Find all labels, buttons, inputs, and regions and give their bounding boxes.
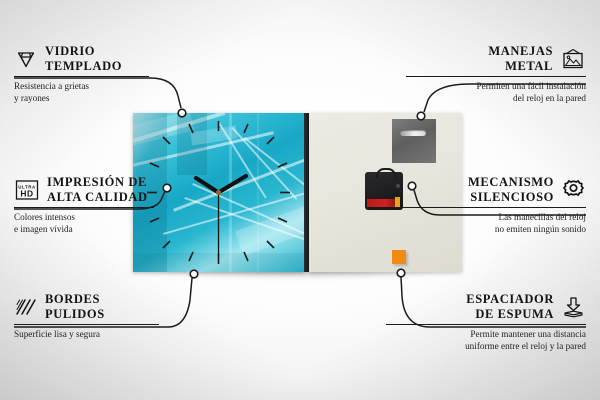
callout-impresion-alta-calidad: ultra HD IMPRESIÓN DE ALTA CALIDAD Color…: [14, 175, 154, 235]
callout-description: Permite mantener una distancia uniforme …: [386, 329, 586, 352]
clock-front-panel: [133, 113, 304, 272]
framed-picture-icon: [560, 48, 586, 70]
callout-description: Resistencia a grietas y rayones: [14, 81, 149, 104]
callout-heading: MANEJAS METAL: [406, 44, 586, 73]
callout-heading: BORDES PULIDOS: [14, 292, 159, 321]
arrow-down-stack-icon: [561, 296, 586, 318]
callout-description: Las manecillas del reloj no emiten ningú…: [396, 212, 586, 235]
callout-title: IMPRESIÓN DE ALTA CALIDAD: [47, 175, 148, 204]
callout-divider: [14, 324, 159, 325]
callout-description: Colores intensos e imagen vívida: [14, 212, 154, 235]
callout-mecanismo-silencioso: MECANISMO SILENCIOSO Las manecillas del …: [396, 175, 586, 235]
callout-heading: ultra HD IMPRESIÓN DE ALTA CALIDAD: [14, 175, 154, 204]
callout-divider: [386, 324, 586, 325]
diamond-icon: [14, 49, 38, 69]
callout-title: ESPACIADOR DE ESPUMA: [466, 292, 554, 321]
callout-heading: ESPACIADOR DE ESPUMA: [386, 292, 586, 321]
hanger-slot: [400, 130, 426, 136]
callout-divider: [14, 76, 149, 77]
callout-title: VIDRIO TEMPLADO: [45, 44, 122, 73]
callout-divider: [14, 207, 154, 208]
battery: [367, 199, 397, 207]
callout-manejas-metal: MANEJAS METAL Permiten una fácil instala…: [406, 44, 586, 104]
callout-divider: [406, 76, 586, 77]
callout-bordes-pulidos: BORDES PULIDOS Superficie lisa y segura: [14, 292, 159, 341]
callout-title: BORDES PULIDOS: [45, 292, 105, 321]
diagonal-lines-icon: [14, 297, 38, 317]
callout-description: Superficie lisa y segura: [14, 329, 159, 340]
callout-title: MANEJAS METAL: [488, 44, 553, 73]
metal-hanger-plate: [392, 119, 436, 163]
callout-vidrio-templado: VIDRIO TEMPLADO Resistencia a grietas y …: [14, 44, 149, 104]
foam-spacer: [392, 250, 406, 264]
callout-divider: [396, 207, 586, 208]
callout-heading: VIDRIO TEMPLADO: [14, 44, 149, 73]
gear-icon: [561, 178, 586, 201]
ultra-hd-icon: ultra HD: [14, 179, 40, 201]
callout-heading: MECANISMO SILENCIOSO: [396, 175, 586, 204]
callout-title: MECANISMO SILENCIOSO: [468, 175, 554, 204]
callout-description: Permiten una fácil instalación del reloj…: [406, 81, 586, 104]
callout-espaciador-de-espuma: ESPACIADOR DE ESPUMA Permite mantener un…: [386, 292, 586, 352]
infographic-stage: VIDRIO TEMPLADO Resistencia a grietas y …: [0, 0, 600, 400]
mechanism-loop: [376, 168, 396, 178]
svg-text:HD: HD: [20, 188, 33, 198]
